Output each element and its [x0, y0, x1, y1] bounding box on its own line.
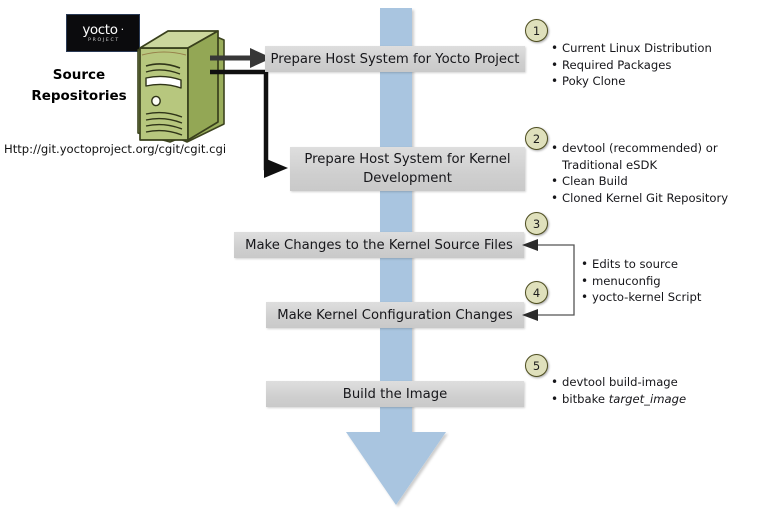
source-repositories-label-line2: Repositories: [20, 86, 138, 107]
step-3-box[interactable]: Make Changes to the Kernel Source Files: [234, 232, 524, 258]
bullet-icon: •: [551, 391, 562, 408]
step-2-note-text: Cloned Kernel Git Repository: [562, 190, 767, 207]
step-3-number: 3: [533, 217, 540, 231]
main-flow-arrow: [330, 8, 480, 513]
source-repositories-label-line1: Source: [20, 65, 138, 86]
step-2-note-item: • Cloned Kernel Git Repository: [551, 190, 767, 207]
step-1-box-label: Prepare Host System for Yocto Project: [271, 50, 520, 69]
bullet-icon: •: [581, 273, 592, 290]
bullet-icon: •: [581, 256, 592, 273]
step-5-notes: • devtool build-image • bitbake target_i…: [551, 374, 751, 407]
step-2-number: 2: [533, 132, 540, 146]
step-2-box-label-line1: Prepare Host System for Kernel: [304, 150, 510, 169]
yocto-logo-subtitle: PROJECT: [86, 37, 120, 44]
step-5-note-italic: target_image: [609, 392, 686, 406]
step-4-box-label: Make Kernel Configuration Changes: [277, 306, 513, 325]
step-5-box[interactable]: Build the Image: [266, 381, 524, 407]
step-5-note-item: • devtool build-image: [551, 374, 751, 391]
connector-server-to-step2: [210, 64, 300, 179]
bullet-icon: •: [551, 40, 562, 57]
step-5-note-text-mixed: bitbake target_image: [562, 391, 751, 408]
step-2-number-badge: 2: [525, 127, 548, 150]
step-1-note-item: • Required Packages: [551, 57, 766, 74]
step-2-box-label-line2: Development: [363, 169, 452, 188]
step-3-box-label: Make Changes to the Kernel Source Files: [245, 236, 513, 255]
step-1-number: 1: [533, 24, 540, 38]
bullet-icon: •: [551, 57, 562, 74]
connector-bracket-steps-3-4: [520, 236, 580, 322]
step-5-number: 5: [533, 359, 540, 373]
shared-note-text: Edits to source: [592, 256, 766, 273]
bullet-icon: •: [551, 173, 562, 190]
step-2-note-text: devtool (recommended) or Traditional eSD…: [562, 140, 767, 173]
bullet-icon: •: [551, 140, 562, 157]
step-5-note-text: devtool build-image: [562, 374, 751, 391]
step-5-number-badge: 5: [525, 354, 548, 377]
source-repositories-label: Source Repositories: [20, 65, 138, 107]
step-2-box[interactable]: Prepare Host System for Kernel Developme…: [290, 147, 525, 191]
step-1-box[interactable]: Prepare Host System for Yocto Project: [265, 46, 525, 72]
yocto-project-logo: yocto· PROJECT: [66, 14, 140, 52]
step-1-note-text: Poky Clone: [562, 73, 766, 90]
step-1-note-text: Required Packages: [562, 57, 766, 74]
step-2-note-item: • Clean Build: [551, 173, 767, 190]
shared-note-item: • Edits to source: [581, 256, 766, 273]
step-5-box-label: Build the Image: [343, 385, 447, 404]
step-1-note-item: • Current Linux Distribution: [551, 40, 766, 57]
step-4-box[interactable]: Make Kernel Configuration Changes: [266, 302, 524, 328]
step-1-number-badge: 1: [525, 19, 548, 42]
step-2-note-text: Clean Build: [562, 173, 767, 190]
bullet-icon: •: [551, 190, 562, 207]
yocto-logo-dot: ·: [118, 23, 124, 36]
step-2-notes: • devtool (recommended) or Traditional e…: [551, 140, 767, 206]
step-2-note-item: • devtool (recommended) or Traditional e…: [551, 140, 767, 173]
bullet-icon: •: [551, 374, 562, 391]
step-1-notes: • Current Linux Distribution • Required …: [551, 40, 766, 90]
step-5-note-prefix: bitbake: [562, 392, 609, 406]
bullet-icon: •: [581, 289, 592, 306]
shared-note-item: • menuconfig: [581, 273, 766, 290]
shared-note-item: • yocto-kernel Script: [581, 289, 766, 306]
step-3-number-badge: 3: [525, 212, 548, 235]
steps-3-4-shared-notes: • Edits to source • menuconfig • yocto-k…: [581, 256, 766, 306]
shared-note-text: yocto-kernel Script: [592, 289, 766, 306]
step-1-note-item: • Poky Clone: [551, 73, 766, 90]
yocto-logo-wordmark: yocto·: [82, 23, 123, 37]
bullet-icon: •: [551, 73, 562, 90]
diagram-canvas: yocto· PROJECT Source Repositories Http:…: [0, 0, 769, 517]
step-5-note-item: • bitbake target_image: [551, 391, 751, 408]
step-1-note-text: Current Linux Distribution: [562, 40, 766, 57]
shared-note-text: menuconfig: [592, 273, 766, 290]
